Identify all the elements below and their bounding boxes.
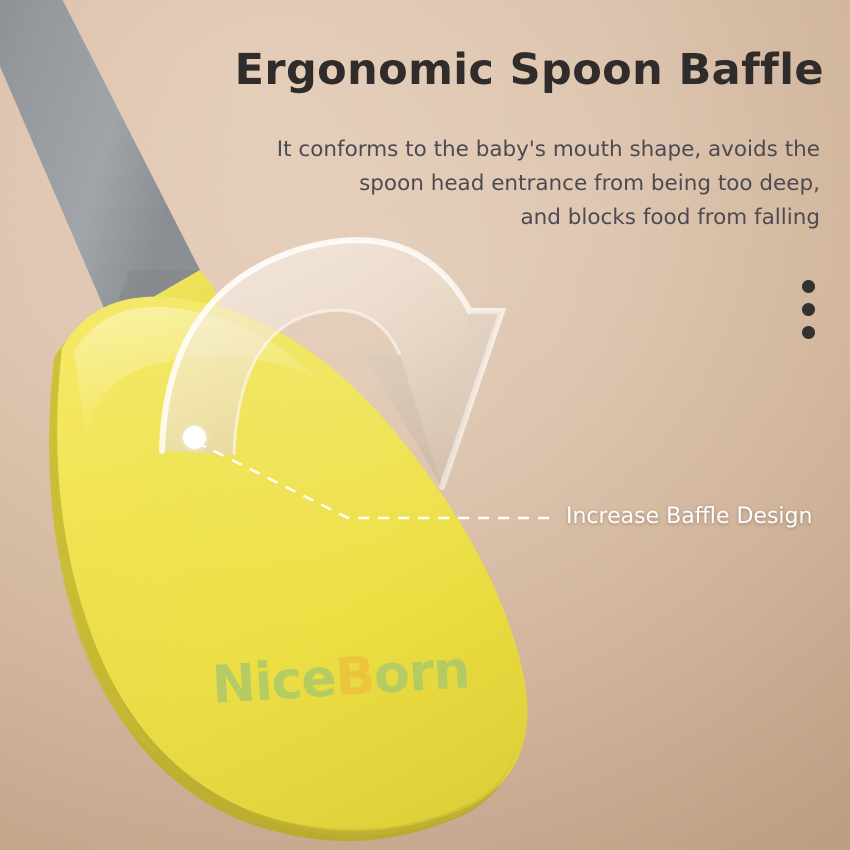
- callout-leader-line: [180, 420, 580, 540]
- subtitle-line-3: and blocks food from falling: [260, 201, 820, 235]
- callout-label: Increase Baffle Design: [566, 504, 812, 529]
- more-vertical-icon[interactable]: [800, 280, 816, 339]
- subtitle-line-2: spoon head entrance from being too deep,: [260, 167, 820, 201]
- watermark-part-1: Nice: [210, 648, 337, 715]
- subtitle-line-1: It conforms to the baby's mouth shape, a…: [260, 133, 820, 167]
- menu-dot-2: [802, 303, 815, 316]
- callout-hotspot-marker[interactable]: [183, 426, 206, 449]
- watermark-part-2: B: [334, 646, 376, 708]
- watermark-part-3: orn: [372, 640, 471, 706]
- product-feature-banner: NiceBorn Ergonomic Spoon Baffle It confo…: [0, 0, 850, 850]
- menu-dot-3: [802, 326, 815, 339]
- page-title: Ergonomic Spoon Baffle: [0, 45, 824, 95]
- menu-dot-1: [802, 280, 815, 293]
- page-subtitle: It conforms to the baby's mouth shape, a…: [260, 133, 820, 235]
